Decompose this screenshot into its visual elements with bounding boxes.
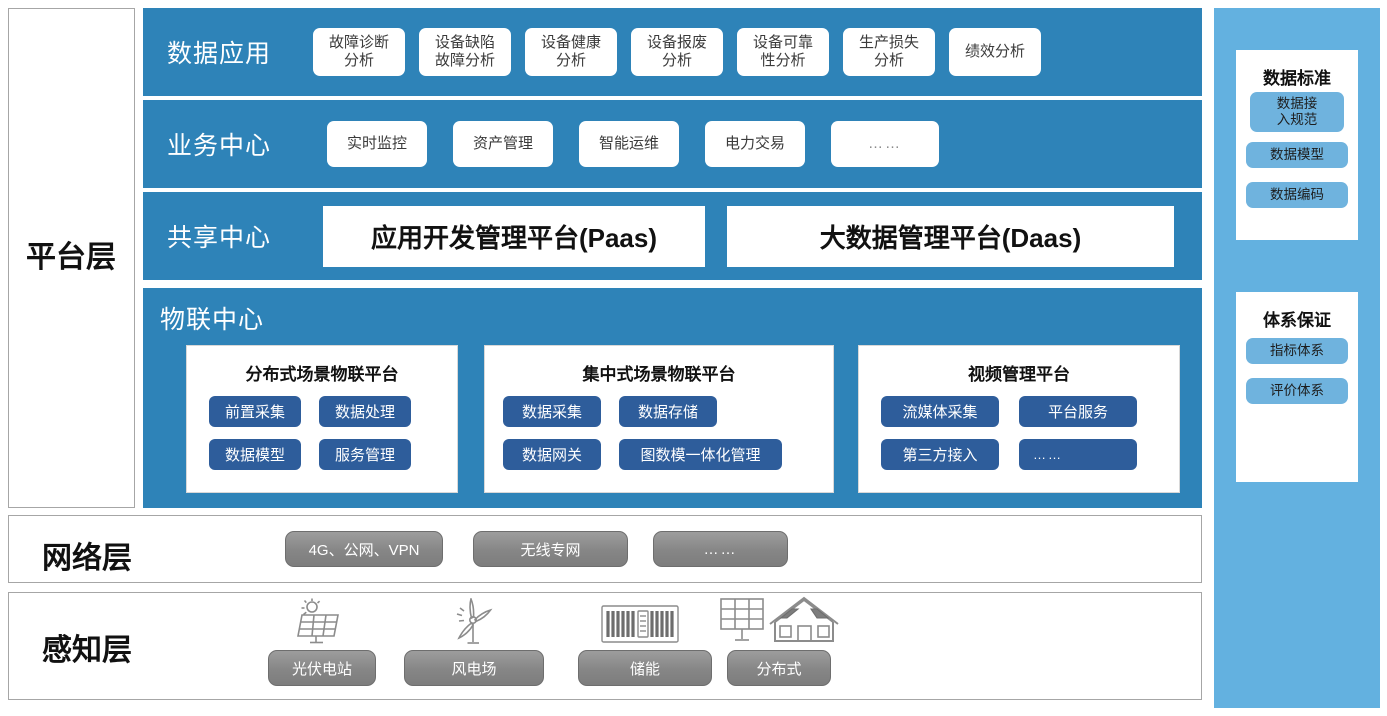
wind-turbine-icon bbox=[440, 598, 510, 646]
data-app-item[interactable]: 设备健康 分析 bbox=[525, 28, 617, 76]
daas-platform-card[interactable]: 大数据管理平台(Daas) bbox=[727, 206, 1174, 267]
business-item[interactable]: 智能运维 bbox=[579, 121, 679, 167]
business-item[interactable]: 资产管理 bbox=[453, 121, 553, 167]
centralized-iot-platform-title: 集中式场景物联平台 bbox=[485, 360, 833, 385]
business-center-band: 业务中心 实时监控 资产管理 智能运维 电力交易 …… bbox=[143, 100, 1202, 188]
architecture-diagram: 平台层 数据应用 故障诊断 分析 设备缺陷 故障分析 设备健康 分析 设备报废 … bbox=[0, 0, 1387, 716]
data-application-band: 数据应用 故障诊断 分析 设备缺陷 故障分析 设备健康 分析 设备报废 分析 设… bbox=[143, 8, 1202, 96]
video-management-platform-card: 视频管理平台 流媒体采集 平台服务 第三方接入 …… bbox=[858, 345, 1180, 493]
network-item-more[interactable]: …… bbox=[653, 531, 788, 567]
data-application-label: 数据应用 bbox=[167, 34, 307, 70]
data-app-item[interactable]: 设备可靠 性分析 bbox=[737, 28, 829, 76]
paas-platform-card[interactable]: 应用开发管理平台(Paas) bbox=[323, 206, 705, 267]
distributed-iot-platform-card: 分布式场景物联平台 前置采集 数据处理 数据模型 服务管理 bbox=[186, 345, 458, 493]
video-button-more[interactable]: …… bbox=[1019, 439, 1137, 470]
data-standard-item[interactable]: 数据接 入规范 bbox=[1250, 92, 1344, 132]
data-standard-title: 数据标准 bbox=[1236, 64, 1358, 89]
video-button[interactable]: 第三方接入 bbox=[881, 439, 999, 470]
business-item[interactable]: 电力交易 bbox=[705, 121, 805, 167]
business-item[interactable]: 实时监控 bbox=[327, 121, 427, 167]
system-guarantee-card: 体系保证 指标体系 评价体系 bbox=[1236, 292, 1358, 482]
standards-sidebar: 数据标准 数据接 入规范 数据模型 数据编码 体系保证 指标体系 评价体系 bbox=[1214, 8, 1380, 708]
iot-button[interactable]: 图数模一体化管理 bbox=[619, 439, 782, 470]
iot-button[interactable]: 前置采集 bbox=[209, 396, 301, 427]
iot-button[interactable]: 数据采集 bbox=[503, 396, 601, 427]
iot-button[interactable]: 数据模型 bbox=[209, 439, 301, 470]
battery-storage-icon bbox=[600, 602, 680, 646]
shared-center-label: 共享中心 bbox=[167, 218, 317, 254]
sensing-item[interactable]: 分布式 bbox=[727, 650, 831, 686]
distributed-iot-platform-title: 分布式场景物联平台 bbox=[187, 360, 457, 385]
data-standard-item[interactable]: 数据模型 bbox=[1246, 142, 1348, 168]
video-button[interactable]: 平台服务 bbox=[1019, 396, 1137, 427]
iot-button[interactable]: 数据存储 bbox=[619, 396, 717, 427]
iot-button[interactable]: 数据处理 bbox=[319, 396, 411, 427]
sensing-item[interactable]: 储能 bbox=[578, 650, 712, 686]
business-center-label: 业务中心 bbox=[167, 126, 317, 162]
solar-panel-sun-icon bbox=[285, 598, 357, 646]
data-app-item[interactable]: 生产损失 分析 bbox=[843, 28, 935, 76]
sensing-item[interactable]: 光伏电站 bbox=[268, 650, 376, 686]
centralized-iot-platform-card: 集中式场景物联平台 数据采集 数据存储 数据网关 图数模一体化管理 bbox=[484, 345, 834, 493]
data-app-item[interactable]: 绩效分析 bbox=[949, 28, 1041, 76]
sensing-layer-title: 感知层 bbox=[42, 625, 132, 669]
business-item-more[interactable]: …… bbox=[831, 121, 939, 167]
network-item[interactable]: 无线专网 bbox=[473, 531, 628, 567]
platform-layer-title: 平台层 bbox=[26, 232, 116, 276]
data-app-item[interactable]: 设备报废 分析 bbox=[631, 28, 723, 76]
system-guarantee-item[interactable]: 评价体系 bbox=[1246, 378, 1348, 404]
data-standard-item[interactable]: 数据编码 bbox=[1246, 182, 1348, 208]
sensing-item[interactable]: 风电场 bbox=[404, 650, 544, 686]
network-item[interactable]: 4G、公网、VPN bbox=[285, 531, 443, 567]
data-standard-card: 数据标准 数据接 入规范 数据模型 数据编码 bbox=[1236, 50, 1358, 240]
solar-house-icon bbox=[718, 596, 848, 646]
data-app-item[interactable]: 故障诊断 分析 bbox=[313, 28, 405, 76]
video-button[interactable]: 流媒体采集 bbox=[881, 396, 999, 427]
iot-center-label: 物联中心 bbox=[160, 300, 264, 336]
video-management-platform-title: 视频管理平台 bbox=[859, 360, 1179, 385]
iot-button[interactable]: 数据网关 bbox=[503, 439, 601, 470]
network-layer-title: 网络层 bbox=[42, 533, 132, 577]
iot-button[interactable]: 服务管理 bbox=[319, 439, 411, 470]
data-app-item[interactable]: 设备缺陷 故障分析 bbox=[419, 28, 511, 76]
system-guarantee-item[interactable]: 指标体系 bbox=[1246, 338, 1348, 364]
system-guarantee-title: 体系保证 bbox=[1236, 306, 1358, 331]
